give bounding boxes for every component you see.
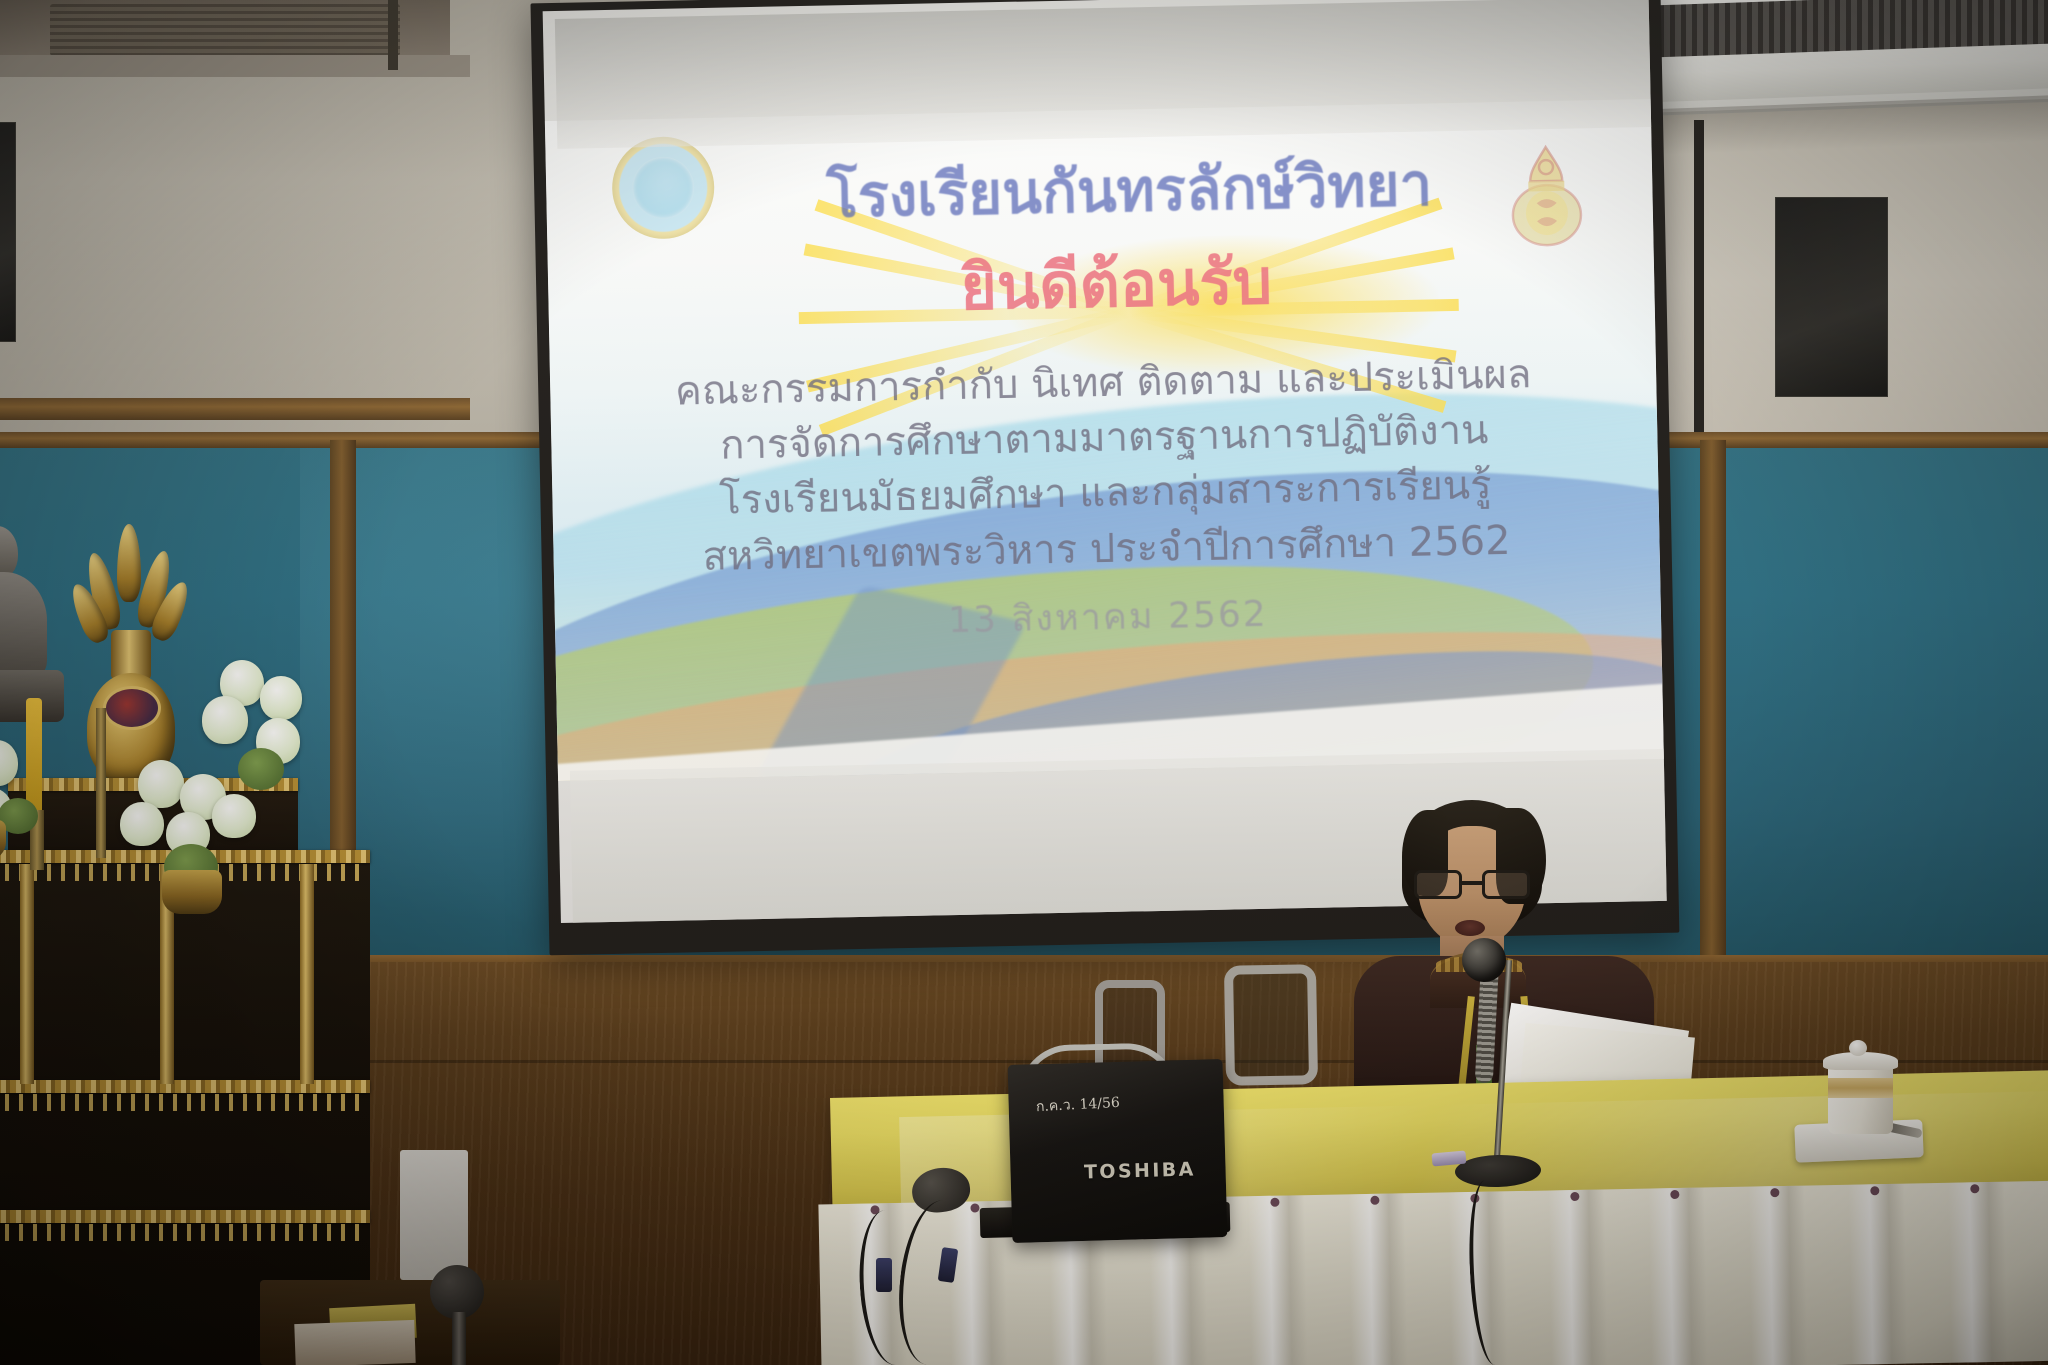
lotus-flower — [0, 740, 18, 786]
eyeglass-lens-right — [1482, 870, 1530, 899]
flower-vase — [162, 870, 222, 914]
shrine-gold-fringe — [0, 1094, 364, 1111]
shrine-gold-pillar — [300, 864, 314, 1084]
shrine-gold-trim — [0, 1210, 370, 1223]
lotus-flower — [202, 696, 248, 744]
slide-welcome-text: ยินดีต้อนรับ — [547, 225, 1655, 345]
microphone-head[interactable] — [1462, 938, 1506, 982]
laptop-asset-tag: ก.ค.ว. 14/56 — [1035, 1092, 1120, 1118]
lidded-teacup[interactable] — [1828, 1062, 1893, 1134]
eyeglasses — [1414, 870, 1532, 900]
wall-speaker-left — [0, 122, 16, 342]
skirt-pleat — [1748, 1186, 1807, 1365]
floor-microphone-head — [430, 1265, 484, 1319]
slide-body-text: คณะกรรมการกำกับ นิเทศ ติดตาม และประเมินผ… — [570, 345, 1640, 587]
lotus-flower — [260, 676, 302, 720]
skirt-pin — [970, 1203, 979, 1212]
skirt-pin — [1570, 1192, 1579, 1201]
shrine-gold-pillar — [20, 864, 34, 1084]
skirt-pin — [1670, 1190, 1679, 1199]
ceiling-vent-grille — [50, 4, 400, 56]
shrine-gold-fringe — [0, 1224, 364, 1241]
laptop-lid[interactable] — [1008, 1059, 1228, 1243]
skirt-pleat — [1248, 1195, 1307, 1365]
conference-room-photo: โรงเรียนกันทรลักษ์วิทยา ยินดีต้อนรับ คณะ… — [0, 0, 2048, 1365]
screen-surface: โรงเรียนกันทรลักษ์วิทยา ยินดีต้อนรับ คณะ… — [543, 0, 1667, 923]
wall-joint-line-upper — [388, 0, 398, 70]
ceiling-beam — [0, 55, 470, 77]
shrine-gold-trim — [0, 1080, 370, 1093]
wall-trim-left-ledge — [0, 398, 470, 420]
skirt-pleat — [1848, 1184, 1907, 1365]
buddhist-shrine-altar — [0, 520, 400, 1365]
equipment-case — [400, 1150, 468, 1280]
skirt-pleat — [1348, 1193, 1407, 1365]
lotus-flower — [138, 760, 184, 808]
white-lotus-flowers — [110, 660, 330, 890]
laptop-brand-label: TOSHIBA — [1084, 1158, 1196, 1183]
skirt-pleat — [1548, 1189, 1607, 1365]
paper-stack — [294, 1320, 415, 1365]
eyeglass-lens-left — [1414, 870, 1462, 899]
wall-joint-line — [1694, 120, 1704, 450]
screen-glare-top — [555, 0, 1663, 149]
lotus-leaf — [238, 748, 284, 790]
lotus-flower — [120, 802, 164, 846]
cable-connector — [876, 1258, 892, 1292]
wall-speaker-right — [1775, 197, 1888, 397]
teacup-gold-band — [1828, 1078, 1893, 1098]
lotus-flower — [212, 794, 256, 838]
person-mouth — [1455, 920, 1485, 936]
teacup-lid-knob — [1849, 1040, 1867, 1056]
buddha-body — [0, 572, 47, 680]
stupa-flame-finial — [117, 524, 141, 602]
skirt-pleat — [1648, 1187, 1707, 1365]
candle-holder — [96, 708, 106, 858]
skirt-pleat — [1948, 1182, 2007, 1363]
presentation-slide: โรงเรียนกันทรลักษ์วิทยา ยินดีต้อนรับ คณะ… — [545, 99, 1664, 781]
white-lotus-flowers — [0, 710, 72, 850]
floor-microphone-stem — [452, 1312, 466, 1365]
eyeglass-bridge — [1462, 881, 1484, 885]
